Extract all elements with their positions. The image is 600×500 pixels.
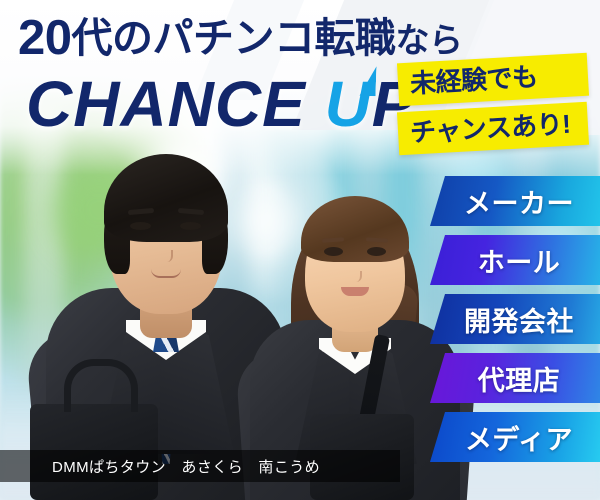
wordmark-chance-up: CHANCE UP bbox=[26, 72, 415, 136]
category-button-development[interactable]: 開発会社 bbox=[430, 294, 600, 344]
headline-number: 20 bbox=[18, 11, 72, 65]
wordmark-u-accent: U bbox=[325, 72, 372, 136]
caption-band: DMMぱちタウン あさくら 南こうめ bbox=[0, 450, 400, 482]
man-eye bbox=[130, 222, 151, 230]
category-button-hall[interactable]: ホール bbox=[430, 235, 600, 285]
man-hair bbox=[104, 154, 228, 242]
promo-badge-line1: 未経験でも bbox=[397, 53, 589, 107]
category-label: メディア bbox=[457, 418, 573, 457]
banner-ad[interactable]: 20代のパチンコ転職なら CHANCE UP 未経験でも チャンスあり! メーカ… bbox=[0, 0, 600, 500]
promo-badge: 未経験でも チャンスあり! bbox=[398, 58, 588, 150]
wordmark-chance: CHANCE bbox=[26, 68, 325, 140]
category-label: ホール bbox=[470, 241, 561, 280]
promo-badge-line2: チャンスあり! bbox=[397, 102, 589, 156]
category-button-agency[interactable]: 代理店 bbox=[430, 353, 600, 403]
caption-text: DMMぱちタウン あさくら 南こうめ bbox=[0, 456, 320, 477]
category-label: メーカー bbox=[456, 182, 574, 221]
headline-main: 代のパチンコ転職 bbox=[72, 15, 396, 61]
category-button-media[interactable]: メディア bbox=[430, 412, 600, 462]
category-button-maker[interactable]: メーカー bbox=[430, 176, 600, 226]
woman-eye bbox=[324, 247, 343, 256]
man-mouth bbox=[151, 269, 181, 278]
category-button-list: メーカー ホール 開発会社 代理店 メディア bbox=[430, 176, 600, 471]
category-label: 開発会社 bbox=[456, 300, 574, 339]
briefcase-left-handle bbox=[64, 359, 138, 412]
headline-tail: なら bbox=[396, 22, 463, 60]
headline: 20代のパチンコ転職なら bbox=[18, 14, 458, 63]
category-label: 代理店 bbox=[470, 359, 561, 398]
woman-eye bbox=[367, 247, 386, 256]
man-eye bbox=[180, 222, 201, 230]
woman-bangs bbox=[301, 196, 409, 262]
